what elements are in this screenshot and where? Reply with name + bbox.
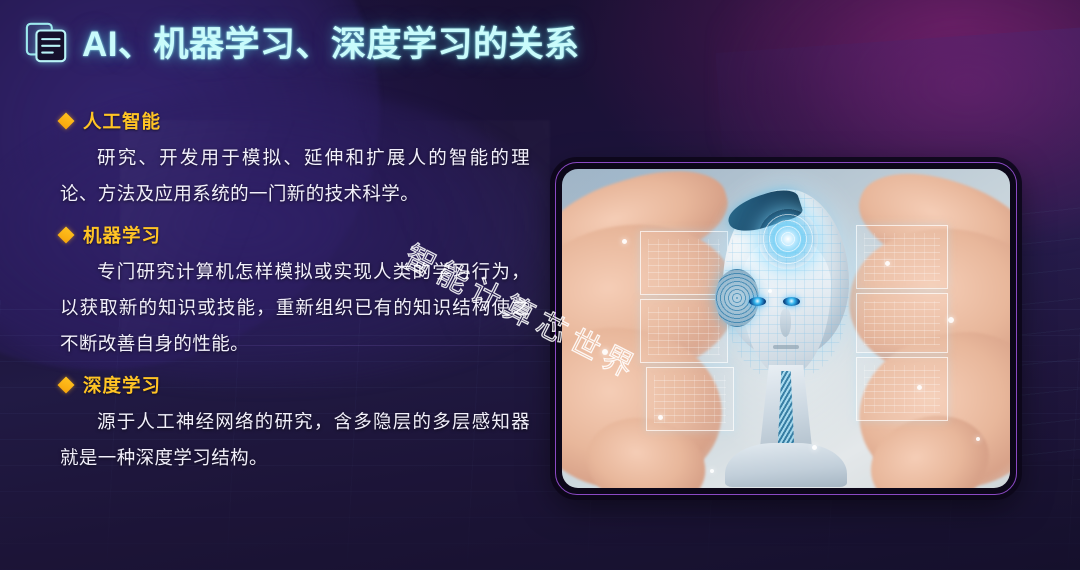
diamond-bullet-icon — [58, 113, 75, 130]
content-column: 人工智能 研究、开发用于模拟、延伸和扩展人的智能的理论、方法及应用系统的一门新的… — [60, 108, 530, 482]
section-title: 机器学习 — [83, 222, 161, 248]
page-title: AI、机器学习、深度学习的关系 — [82, 16, 580, 67]
sparkle-icon — [917, 385, 922, 390]
section-deep-learning: 深度学习 源于人工神经网络的研究，含多隐层的多层感知器就是一种深度学习结构。 — [60, 372, 530, 476]
sparkle-icon — [768, 289, 772, 293]
robot-eye-right — [783, 297, 800, 306]
diamond-bullet-icon — [58, 377, 75, 394]
section-title: 深度学习 — [83, 372, 161, 398]
section-heading: 机器学习 — [60, 222, 530, 248]
diamond-bullet-icon — [58, 227, 75, 244]
hud-panel-icon — [856, 357, 948, 421]
robot-shoulder — [725, 443, 847, 487]
robot-eye-left — [749, 297, 766, 306]
section-body: 源于人工神经网络的研究，含多隐层的多层感知器就是一种深度学习结构。 — [60, 404, 530, 476]
sparkle-icon — [948, 317, 954, 323]
sparkle-icon — [710, 469, 714, 473]
documents-icon — [24, 19, 70, 65]
section-machine-learning: 机器学习 专门研究计算机怎样模拟或实现人类的学习行为，以获取新的知识或技能，重新… — [60, 222, 530, 362]
hud-panel-icon — [856, 293, 948, 353]
section-body: 专门研究计算机怎样模拟或实现人类的学习行为，以获取新的知识或技能，重新组织已有的… — [60, 254, 530, 362]
slide-root: AI、机器学习、深度学习的关系 人工智能 研究、开发用于模拟、延伸和扩展人的智能… — [0, 0, 1080, 570]
forehead-rings-icon — [758, 209, 818, 269]
robot-nose — [780, 309, 791, 337]
sparkle-icon — [976, 437, 980, 441]
section-artificial-intelligence: 人工智能 研究、开发用于模拟、延伸和扩展人的智能的理论、方法及应用系统的一门新的… — [60, 108, 530, 212]
section-body: 研究、开发用于模拟、延伸和扩展人的智能的理论、方法及应用系统的一门新的技术科学。 — [60, 140, 530, 212]
photo-image — [562, 169, 1010, 488]
robot-head-illustration — [711, 185, 861, 485]
sparkle-icon — [812, 445, 817, 450]
sparkle-icon — [622, 239, 627, 244]
sparkle-icon — [885, 261, 890, 266]
slide-header: AI、机器学习、深度学习的关系 — [24, 16, 580, 67]
sparkle-icon — [658, 415, 663, 420]
ai-robot-head-photo — [555, 162, 1017, 495]
section-title: 人工智能 — [83, 108, 161, 134]
hud-panel-icon — [856, 225, 948, 289]
sparkle-icon — [602, 349, 608, 355]
section-heading: 深度学习 — [60, 372, 530, 398]
robot-mouth — [773, 345, 799, 349]
section-heading: 人工智能 — [60, 108, 530, 134]
